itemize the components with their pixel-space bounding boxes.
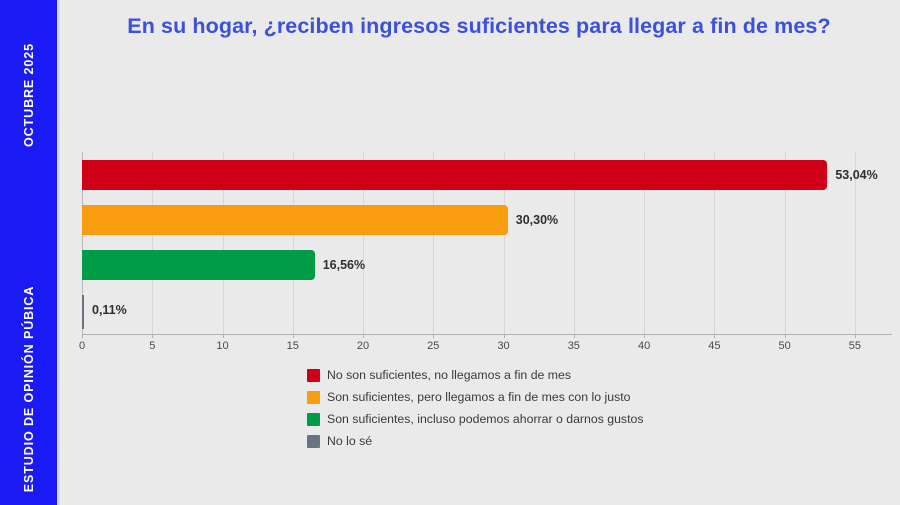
x-tick-label-35: 35 bbox=[568, 340, 580, 352]
legend-label-1: Son suficientes, pero llegamos a fin de … bbox=[327, 390, 631, 404]
bar-value-label-2: 16,56% bbox=[323, 258, 365, 272]
legend-label-3: No lo sé bbox=[327, 434, 372, 448]
sidebar-study-label: ESTUDIO DE OPINIÓN PÚBICA bbox=[22, 286, 36, 493]
legend-swatch-icon-3 bbox=[307, 435, 320, 448]
bar-3 bbox=[82, 295, 84, 329]
bar-2 bbox=[82, 250, 315, 280]
sidebar-date-label: OCTUBRE 2025 bbox=[22, 43, 36, 147]
x-tick-label-55: 55 bbox=[849, 340, 861, 352]
x-tick-30 bbox=[504, 334, 505, 338]
x-tick-label-10: 10 bbox=[216, 340, 228, 352]
x-tick-50 bbox=[785, 334, 786, 338]
x-tick-label-50: 50 bbox=[778, 340, 790, 352]
bar-value-label-3: 0,11% bbox=[92, 303, 127, 317]
legend-item-0[interactable]: No son suficientes, no llegamos a fin de… bbox=[307, 366, 727, 384]
legend-item-1[interactable]: Son suficientes, pero llegamos a fin de … bbox=[307, 388, 727, 406]
chart-page: OCTUBRE 2025 ESTUDIO DE OPINIÓN PÚBICA E… bbox=[0, 0, 900, 505]
legend-label-0: No son suficientes, no llegamos a fin de… bbox=[327, 368, 571, 382]
x-tick-55 bbox=[855, 334, 856, 338]
x-tick-label-40: 40 bbox=[638, 340, 650, 352]
sidebar-rail: OCTUBRE 2025 ESTUDIO DE OPINIÓN PÚBICA bbox=[0, 0, 57, 505]
x-tick-label-30: 30 bbox=[497, 340, 509, 352]
x-tick-label-0: 0 bbox=[79, 340, 85, 352]
x-tick-20 bbox=[363, 334, 364, 338]
bar-value-label-0: 53,04% bbox=[835, 168, 877, 182]
legend-swatch-icon-0 bbox=[307, 369, 320, 382]
x-tick-35 bbox=[574, 334, 575, 338]
bar-1 bbox=[82, 205, 508, 235]
x-tick-0 bbox=[82, 334, 83, 338]
page-title: En su hogar, ¿reciben ingresos suficient… bbox=[60, 14, 898, 39]
x-tick-45 bbox=[714, 334, 715, 338]
legend-label-2: Son suficientes, incluso podemos ahorrar… bbox=[327, 412, 643, 426]
plot-area: 53,04%30,30%16,56%0,11% bbox=[82, 152, 890, 334]
bar-0 bbox=[82, 160, 827, 190]
x-tick-label-25: 25 bbox=[427, 340, 439, 352]
x-tick-25 bbox=[433, 334, 434, 338]
sidebar-edge-divider bbox=[57, 0, 60, 505]
x-axis-line bbox=[82, 334, 892, 335]
bar-value-label-1: 30,30% bbox=[516, 213, 558, 227]
x-tick-label-5: 5 bbox=[149, 340, 155, 352]
x-tick-label-45: 45 bbox=[708, 340, 720, 352]
x-tick-label-15: 15 bbox=[287, 340, 299, 352]
x-tick-10 bbox=[223, 334, 224, 338]
legend-item-3[interactable]: No lo sé bbox=[307, 432, 727, 450]
legend-swatch-icon-2 bbox=[307, 413, 320, 426]
legend-item-2[interactable]: Son suficientes, incluso podemos ahorrar… bbox=[307, 410, 727, 428]
x-tick-label-20: 20 bbox=[357, 340, 369, 352]
x-tick-40 bbox=[644, 334, 645, 338]
legend-swatch-icon-1 bbox=[307, 391, 320, 404]
x-tick-5 bbox=[152, 334, 153, 338]
x-tick-15 bbox=[293, 334, 294, 338]
chart-legend: No son suficientes, no llegamos a fin de… bbox=[307, 366, 727, 454]
